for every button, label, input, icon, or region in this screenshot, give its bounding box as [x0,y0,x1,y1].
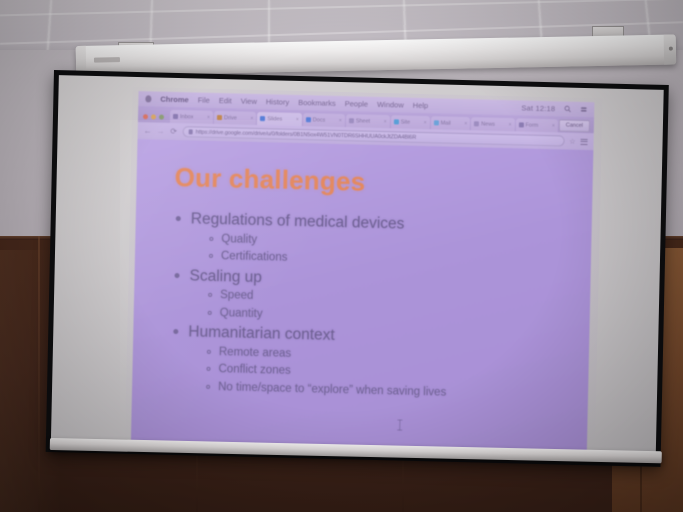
sub-bullet-text: Remote areas [219,346,291,360]
slide-bullet-list: Regulations of medical devices Quality C… [156,209,576,405]
tab-favicon-icon [434,120,439,125]
bullet-level1: Regulations of medical devices Quality C… [173,209,576,274]
tab-close-icon[interactable]: × [384,119,387,125]
projected-browser-window: Chrome File Edit View History Bookmarks … [131,91,595,452]
minimize-button [151,114,156,119]
hamburger-menu-icon[interactable] [581,138,588,144]
menu-item-view[interactable]: View [241,97,257,106]
tab-favicon-icon [173,114,178,119]
bullet-circle-icon [209,254,213,258]
tab-close-icon[interactable]: × [508,122,511,128]
tab-title: Drive [224,115,237,121]
browser-tab[interactable]: Sheet × [346,114,390,128]
tab-close-icon[interactable]: × [207,114,210,120]
browser-tab[interactable]: News × [471,117,515,131]
bullet-text: Scaling up [189,267,262,286]
bullet-dot-icon [176,216,181,221]
tab-close-icon[interactable]: × [339,117,342,123]
tab-title: Sheet [356,118,371,124]
tab-favicon-icon [260,116,265,121]
browser-tab[interactable]: Drive × [214,111,257,125]
tab-close-icon[interactable]: × [424,120,427,126]
bullet-level1: Humanitarian context Remote areas Confli… [170,322,573,405]
tabstrip-cancel-button[interactable]: Cancel [559,119,590,132]
menu-item-file[interactable]: File [198,96,210,105]
tab-close-icon[interactable]: × [250,115,253,121]
tab-title: News [481,121,495,127]
bullet-circle-icon [209,236,213,240]
reload-icon[interactable]: ⟳ [170,127,178,136]
tab-favicon-icon [217,115,222,120]
browser-tab[interactable]: Inbox × [170,110,213,124]
bullet-dot-icon [175,273,180,278]
bullet-text: Humanitarian context [188,323,335,344]
bullet-level1: Scaling up Speed Quantity [172,266,575,331]
browser-tab[interactable]: Form × [515,118,558,132]
screen-surface: Chrome File Edit View History Bookmarks … [51,75,664,462]
menubar-clock: Sat 12:18 [521,103,555,113]
tab-close-icon[interactable]: × [296,116,299,122]
bullet-dot-icon [173,329,178,334]
tab-favicon-icon [518,122,523,127]
tab-title: Site [401,119,411,125]
tab-title: Docs [313,117,326,123]
menu-item-window[interactable]: Window [377,100,404,110]
screen-black-border: Chrome File Edit View History Bookmarks … [46,70,669,467]
google-slides-canvas[interactable]: Our challenges Regulations of medical de… [131,139,593,452]
sub-bullet-text: Conflict zones [218,363,290,377]
address-bar-url: https://drive.google.com/drive/u/0/folde… [196,129,417,140]
menu-item-chrome[interactable]: Chrome [160,95,189,105]
sub-bullet-text: Quantity [220,307,263,320]
room-scene: Chrome File Edit View History Bookmarks … [0,0,683,512]
sub-bullet-text: Speed [220,289,254,302]
maximize-button [159,115,164,120]
browser-tab-active[interactable]: Slides × [257,112,302,126]
menu-item-help[interactable]: Help [413,101,429,110]
tab-title: Inbox [180,114,194,120]
menu-item-people[interactable]: People [345,99,369,109]
bullet-circle-icon [208,293,212,297]
back-arrow-icon[interactable]: ← [144,126,152,135]
control-center-icon[interactable] [580,106,587,113]
menu-item-history[interactable]: History [266,97,290,107]
browser-tab[interactable]: Docs × [303,113,345,127]
bullet-circle-icon [206,367,210,371]
apple-icon[interactable] [145,95,151,102]
bullet-text: Regulations of medical devices [191,210,405,232]
tab-close-icon[interactable]: × [552,123,555,129]
bullet-circle-icon [207,350,211,354]
text-ibeam-cursor [399,420,400,431]
tab-favicon-icon [474,121,479,126]
tab-favicon-icon [306,117,311,122]
projection-screen: Chrome File Edit View History Bookmarks … [54,70,669,468]
bullet-circle-icon [208,310,212,314]
browser-tab[interactable]: Mail × [430,116,470,130]
search-icon[interactable] [564,105,571,112]
tab-title: Slides [267,116,282,122]
tab-favicon-icon [349,118,354,123]
close-button [143,114,148,119]
sub-bullet-text: No time/space to “explore” when saving l… [218,381,446,399]
forward-arrow-icon[interactable]: → [157,127,165,136]
star-icon[interactable]: ☆ [569,137,575,145]
tab-title: Form [525,122,538,128]
slide-title: Our challenges [174,162,577,203]
browser-tab[interactable]: Site × [391,115,430,129]
tab-close-icon[interactable]: × [464,121,467,127]
slide-sub-list: Remote areas Conflict zones No time/spac… [187,343,573,405]
sub-bullet-text: Quality [221,233,257,246]
bullet-circle-icon [206,384,210,388]
sub-bullet-text: Certifications [221,250,288,264]
menu-item-edit[interactable]: Edit [219,96,232,105]
tab-favicon-icon [394,119,399,124]
lock-icon [189,129,193,134]
tab-title: Mail [441,120,451,126]
menu-item-bookmarks[interactable]: Bookmarks [298,98,336,108]
